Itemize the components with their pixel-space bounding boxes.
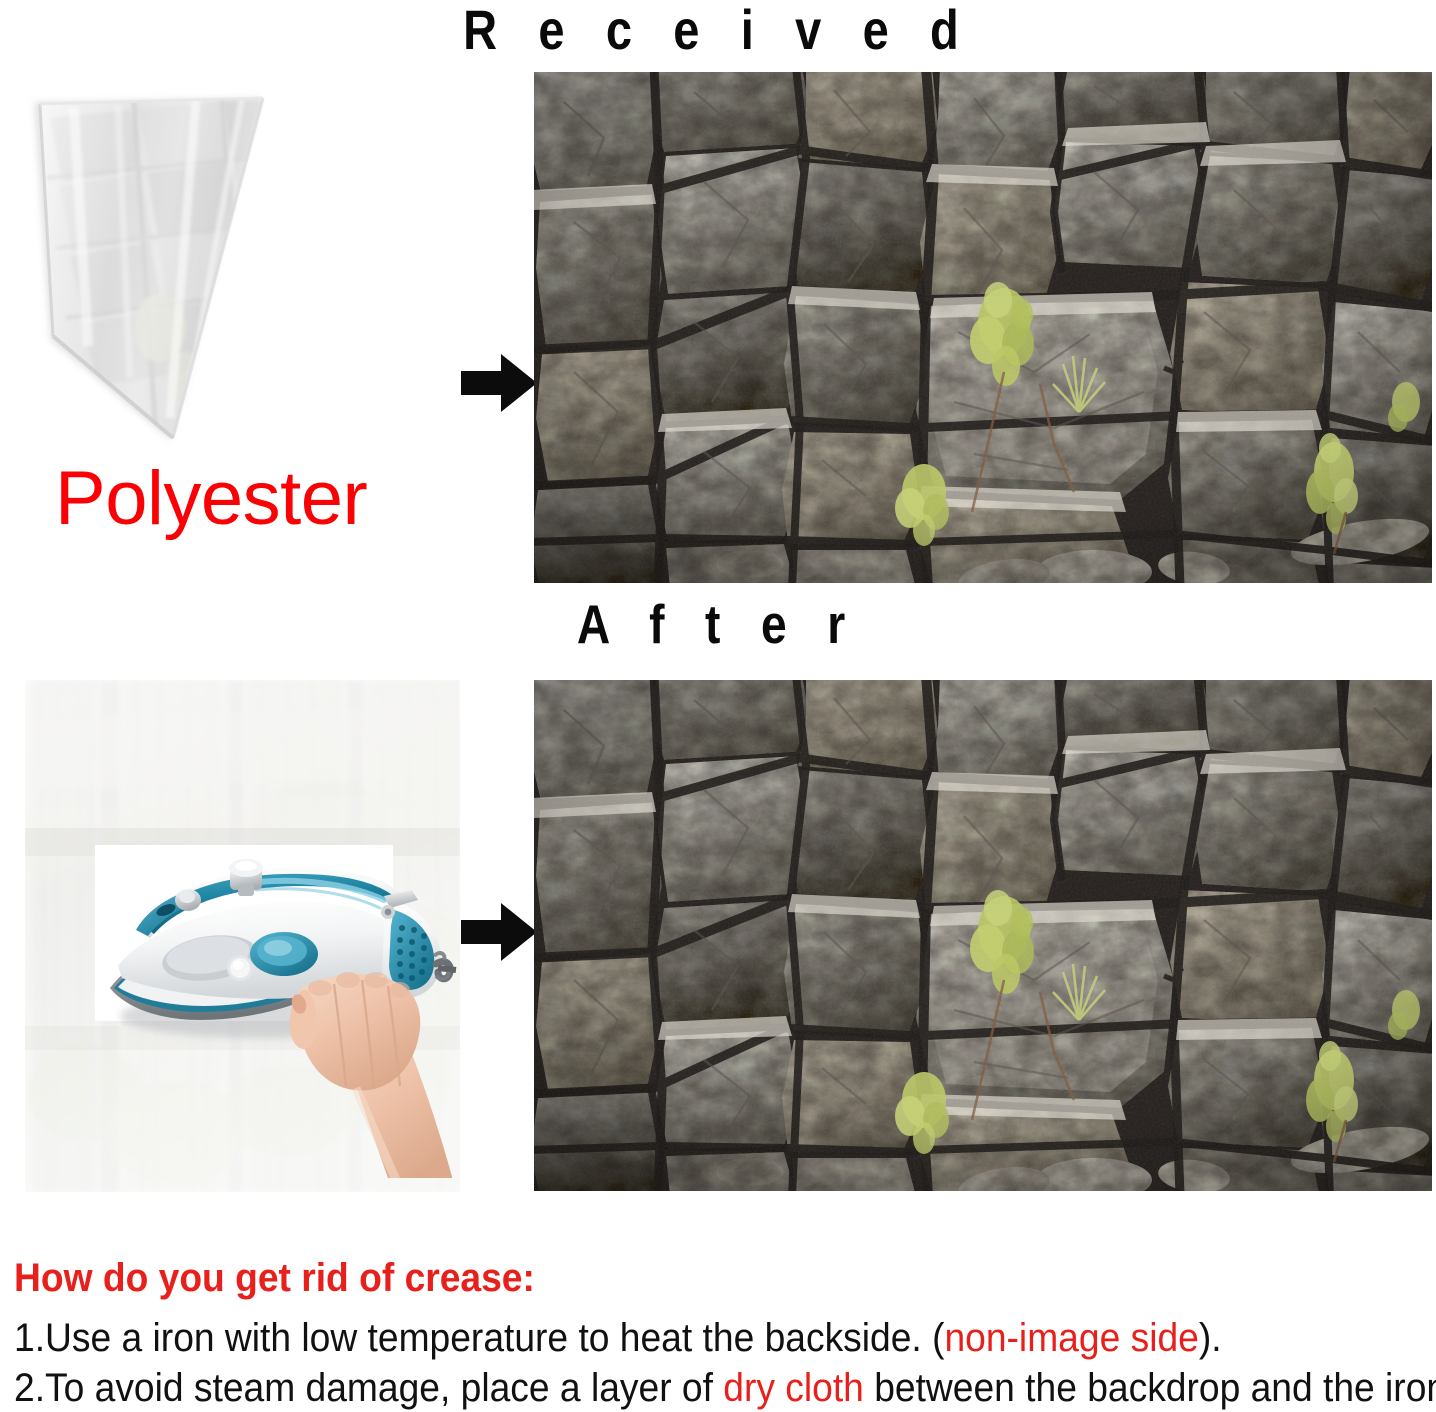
section-label-received: R e c e i v e d <box>115 2 1321 58</box>
fabric-swatch-image <box>10 78 430 478</box>
instructions-block: How do you get rid of crease: 1.Use a ir… <box>14 1256 1434 1412</box>
arrow-right-icon <box>461 901 537 963</box>
instruction-line-2: 2.To avoid steam damage, place a layer o… <box>14 1365 1335 1411</box>
instruction-1-highlight: non-image side <box>944 1316 1198 1360</box>
instruction-2-highlight: dry cloth <box>723 1366 864 1410</box>
instruction-2-prefix: 2.To avoid steam damage, place a layer o… <box>14 1366 723 1410</box>
instruction-sheet: R e c e i v e d <box>0 0 1436 1401</box>
crease-heading: How do you get rid of crease: <box>14 1256 1335 1301</box>
instruction-1-suffix: ). <box>1199 1316 1222 1360</box>
instruction-1-prefix: 1.Use a iron with low temperature to hea… <box>14 1316 944 1360</box>
photo-after <box>534 680 1432 1191</box>
instruction-2-suffix: between the backdrop and the iron. <box>864 1366 1436 1410</box>
instruction-line-1: 1.Use a iron with low temperature to hea… <box>14 1315 1335 1361</box>
section-label-after: A f t e r <box>115 597 1321 652</box>
photo-received <box>534 72 1432 583</box>
polyester-label: Polyester <box>55 461 367 537</box>
iron-card-background <box>95 845 393 1021</box>
arrow-right-icon <box>461 352 537 414</box>
